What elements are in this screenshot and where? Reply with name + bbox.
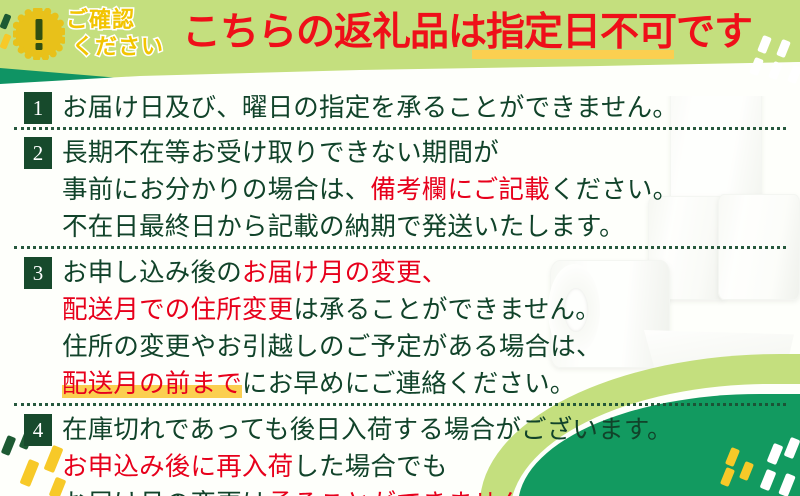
item-number-badge: 1	[24, 92, 52, 124]
badge-text-line-2: ください	[72, 33, 171, 60]
page-title-after: です	[676, 11, 752, 54]
body-text: した場合でも	[293, 453, 447, 481]
item-text-line: お申込み後に再入荷した場合でも	[62, 449, 800, 486]
body-text: 在庫切れであっても後日入荷する場合がございます。	[62, 416, 673, 444]
notice-item: 2長期不在等お受け取りできない期間が事前にお分かりの場合は、備考欄にご記載くださ…	[0, 130, 800, 246]
item-text-line: 住所の変更やお引越しのご予定がある場合は、	[62, 329, 800, 366]
page-title-before: こちらの返礼品は	[182, 11, 486, 54]
body-text: お届け日及び、曜日の指定を承ることができません。	[62, 94, 678, 122]
badge-text-line-1: ご確認	[66, 6, 171, 33]
emphasis-red-text: お届け月の変更、	[242, 259, 448, 287]
item-text-line: お届け月の変更は承ることができません。	[62, 486, 800, 496]
item-number-badge: 3	[24, 257, 52, 289]
item-text-line: お申し込み後のお届け月の変更、	[62, 255, 800, 292]
body-text: 長期不在等お受け取りできない期間が	[62, 139, 499, 167]
body-text: 事前にお分かりの場合は、	[62, 176, 370, 204]
item-text: お届け日及び、曜日の指定を承ることができません。	[62, 90, 800, 127]
item-text-line: 配送月での住所変更は承ることができません。	[62, 292, 800, 329]
notice-item: 1お届け日及び、曜日の指定を承ることができません。	[0, 86, 800, 127]
item-text-line: 在庫切れであっても後日入荷する場合がございます。	[62, 412, 800, 449]
badge-text: ご確認 ください	[66, 6, 171, 64]
item-text-line: お届け日及び、曜日の指定を承ることができません。	[62, 90, 800, 127]
item-text: お申し込み後のお届け月の変更、配送月での住所変更は承ることができません。住所の変…	[62, 255, 800, 403]
body-text: 住所の変更やお引越しのご予定がある場合は、	[62, 333, 602, 361]
body-text: 不在日最終日から記載の納期で発送いたします。	[62, 213, 625, 241]
emphasis-red-text: 備考欄にご記載	[370, 176, 549, 204]
item-text: 長期不在等お受け取りできない期間が事前にお分かりの場合は、備考欄にご記載ください…	[62, 135, 800, 246]
item-number-badge: 4	[24, 414, 52, 446]
item-text-line: 長期不在等お受け取りできない期間が	[62, 135, 800, 172]
item-text-line: 事前にお分かりの場合は、備考欄にご記載ください。	[62, 172, 800, 209]
body-text: ください。	[550, 176, 679, 204]
emphasis-red-text: 配送月での住所変更	[62, 296, 293, 324]
notice-item-list: 1お届け日及び、曜日の指定を承ることができません。2長期不在等お受け取りできない…	[0, 86, 800, 496]
page-title-underline	[472, 50, 674, 59]
emphasis-red-text: お申込み後に再入荷	[62, 453, 293, 481]
emphasis-red-highlight-text: 配送月の前まで	[62, 370, 242, 398]
body-text: は承ることができません。	[293, 296, 601, 324]
body-text: お届け月の変更は	[62, 490, 268, 496]
body-text: お申し込み後の	[62, 259, 242, 287]
notice-item: 4在庫切れであっても後日入荷する場合がございます。お申込み後に再入荷した場合でも…	[0, 406, 800, 496]
item-text-line: 不在日最終日から記載の納期で発送いたします。	[62, 209, 800, 246]
notice-banner: ご確認 ください こちらの返礼品は指定日不可です 1お届け日及び、曜日の指定を承…	[0, 0, 800, 496]
item-text-line: 配送月の前までにお早めにご連絡ください。	[62, 366, 800, 403]
emphasis-red-text: 承ることができません。	[268, 490, 550, 496]
page-title-underlined: 指定日不可	[486, 11, 676, 54]
body-text: にお早めにご連絡ください。	[242, 370, 576, 398]
notice-item: 3お申し込み後のお届け月の変更、配送月での住所変更は承ることができません。住所の…	[0, 249, 800, 403]
item-text: 在庫切れであっても後日入荷する場合がございます。お申込み後に再入荷した場合でもお…	[62, 412, 800, 496]
exclamation-starburst-icon	[13, 8, 65, 60]
item-number-badge: 2	[24, 137, 52, 169]
